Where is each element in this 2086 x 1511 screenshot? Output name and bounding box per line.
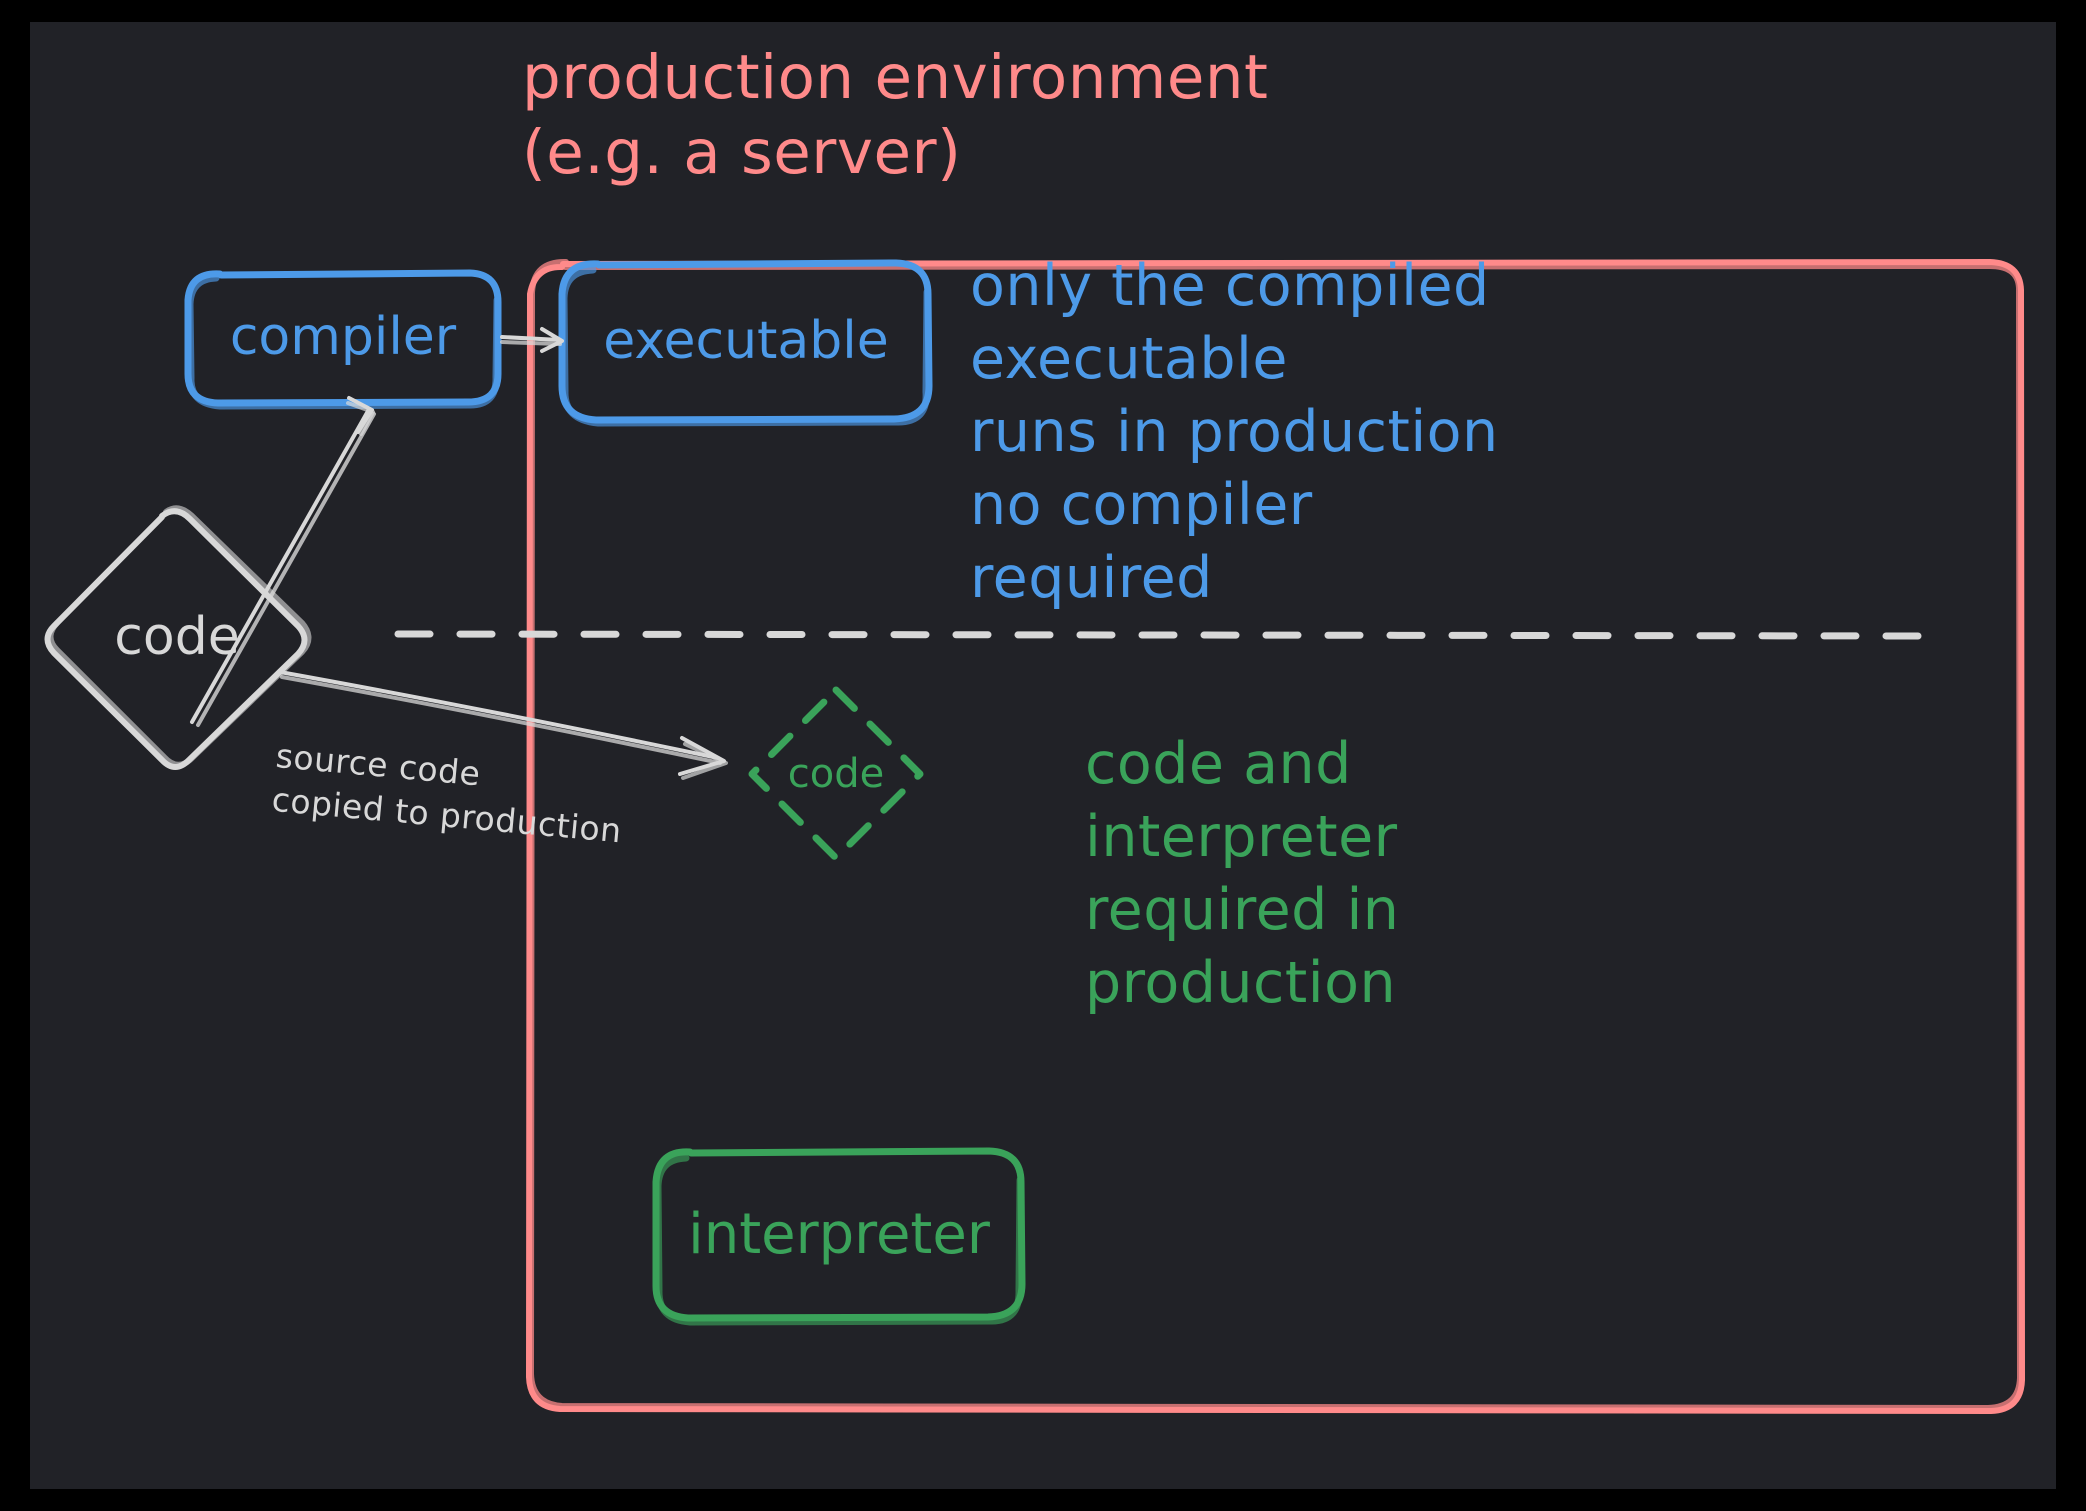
arrow-compiler-to-executable [502, 329, 562, 351]
source-code-node[interactable]: code [48, 512, 306, 762]
executable-node-label: executable [562, 262, 930, 420]
environment-title-line2: (e.g. a server) [522, 117, 961, 188]
source-code-copy-note: source codecopied to production [270, 734, 627, 853]
compiled-note: only the compiledexecutableruns in produ… [970, 250, 1499, 615]
interpreted-note-line3: required in [1085, 877, 1399, 943]
section-divider [398, 634, 1920, 636]
interpreted-note: code andinterpreterrequired inproduction [1085, 728, 1399, 1020]
diagram-board: production environment(e.g. a server) co… [30, 22, 2056, 1489]
interpreted-note-line4: production [1085, 950, 1396, 1016]
environment-title-line1: production environment [522, 42, 1268, 113]
compiler-node-label: compiler [188, 272, 498, 402]
compiled-note-line3: runs in production [970, 399, 1499, 465]
compiled-note-line2: executable [970, 326, 1288, 392]
code-in-production-node[interactable]: code [752, 690, 920, 858]
interpreter-node[interactable]: interpreter [655, 1150, 1023, 1318]
executable-node[interactable]: executable [562, 262, 930, 420]
compiled-note-line1: only the compiled [970, 253, 1490, 319]
compiled-note-line5: required [970, 545, 1213, 611]
compiled-note-line4: no compiler [970, 472, 1313, 538]
source-code-node-label: code [48, 512, 306, 762]
interpreted-note-line2: interpreter [1085, 804, 1398, 870]
compiler-node[interactable]: compiler [188, 272, 498, 402]
environment-title: production environment(e.g. a server) [522, 40, 1268, 190]
interpreter-node-label: interpreter [655, 1150, 1023, 1318]
screenshot-canvas: production environment(e.g. a server) co… [0, 0, 2086, 1511]
code-in-production-node-label: code [752, 690, 920, 858]
interpreted-note-line1: code and [1085, 731, 1352, 797]
